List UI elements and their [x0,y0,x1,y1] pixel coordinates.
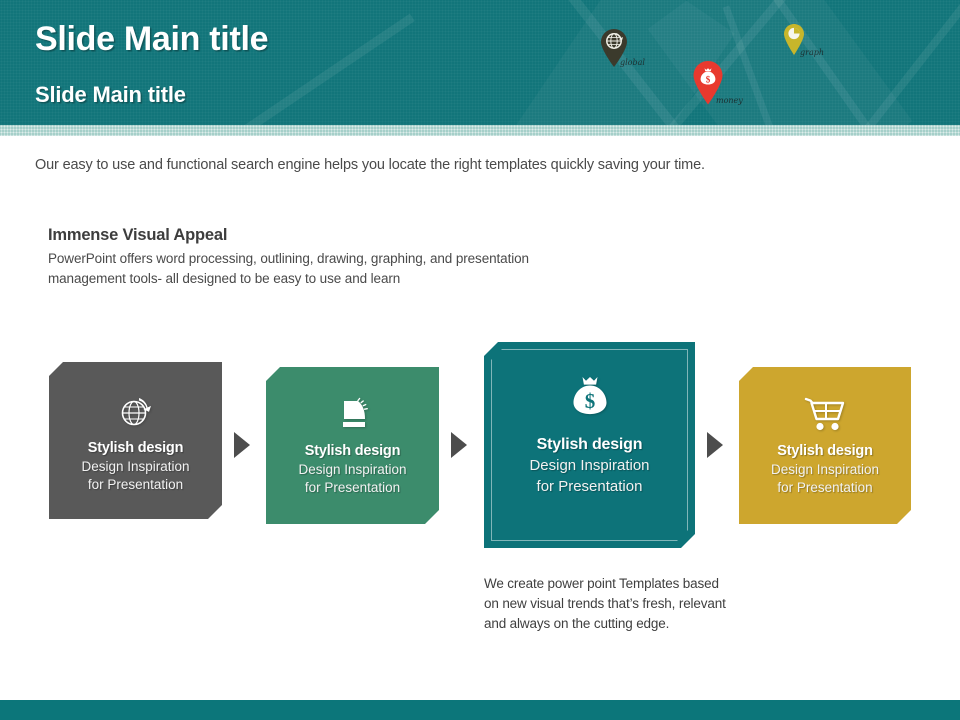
card-subtitle-line1: Design Inspiration [771,461,879,479]
note-text: We create power point Templates based on… [484,574,734,634]
card-stylish-design-3[interactable]: $ Stylish design Design Inspiration for … [484,342,695,548]
card-row: Stylish design Design Inspiration for Pr… [0,338,960,568]
map-pin-money[interactable]: $ money [692,60,724,111]
card-stylish-design-1[interactable]: Stylish design Design Inspiration for Pr… [49,362,222,519]
card-title: Stylish design [537,436,643,454]
svg-text:$: $ [584,389,595,413]
title-block: Slide Main title Slide Main title [35,22,268,108]
card-subtitle-line2: for Presentation [81,476,189,494]
appeal-body: PowerPoint offers word processing, outli… [48,249,688,290]
appeal-body-line1: PowerPoint offers word processing, outli… [48,249,688,269]
card-subtitle: Design Inspiration for Presentation [529,456,649,497]
intro-text: Our easy to use and functional search en… [35,157,915,173]
appeal-body-line2: management tools- all designed to be eas… [48,269,688,289]
map-pin-label: graph [800,48,824,57]
card-subtitle-line1: Design Inspiration [298,461,406,479]
card-title: Stylish design [88,440,184,456]
map-pin-graph[interactable]: graph [783,23,805,61]
money-bag-icon: $ [565,374,615,428]
card-subtitle-line1: Design Inspiration [529,456,649,477]
svg-text:$: $ [706,75,711,85]
slide-footer [0,700,960,720]
play-triangle-icon-1 [234,432,250,458]
play-triangle-icon-3 [707,432,723,458]
globe-refresh-icon [115,390,157,432]
page-title: Slide Main title [35,22,268,58]
card-title: Stylish design [305,443,401,459]
shopping-cart-icon [802,395,848,435]
map-pin-label: global [620,58,645,67]
map-pin-label: money [716,96,743,105]
play-triangle-icon-2 [451,432,467,458]
card-stylish-design-4[interactable]: Stylish design Design Inspiration for Pr… [739,367,911,524]
map-pin-global[interactable]: global [600,28,628,73]
appeal-block: Immense Visual Appeal PowerPoint offers … [48,226,688,290]
card-subtitle: Design Inspiration for Presentation [81,458,189,494]
card-stylish-design-2[interactable]: Stylish design Design Inspiration for Pr… [266,367,439,524]
card-subtitle-line2: for Presentation [529,477,649,498]
card-subtitle: Design Inspiration for Presentation [298,461,406,497]
card-subtitle-line2: for Presentation [298,479,406,497]
card-subtitle: Design Inspiration for Presentation [771,461,879,497]
card-subtitle-line1: Design Inspiration [81,458,189,476]
document-page-icon [333,395,373,435]
card-title: Stylish design [777,443,873,459]
card-subtitle-line2: for Presentation [771,479,879,497]
appeal-heading: Immense Visual Appeal [48,226,688,245]
slide-header: Slide Main title Slide Main title global… [0,0,960,125]
header-accent-band [0,125,960,136]
page-subtitle: Slide Main title [35,82,268,108]
